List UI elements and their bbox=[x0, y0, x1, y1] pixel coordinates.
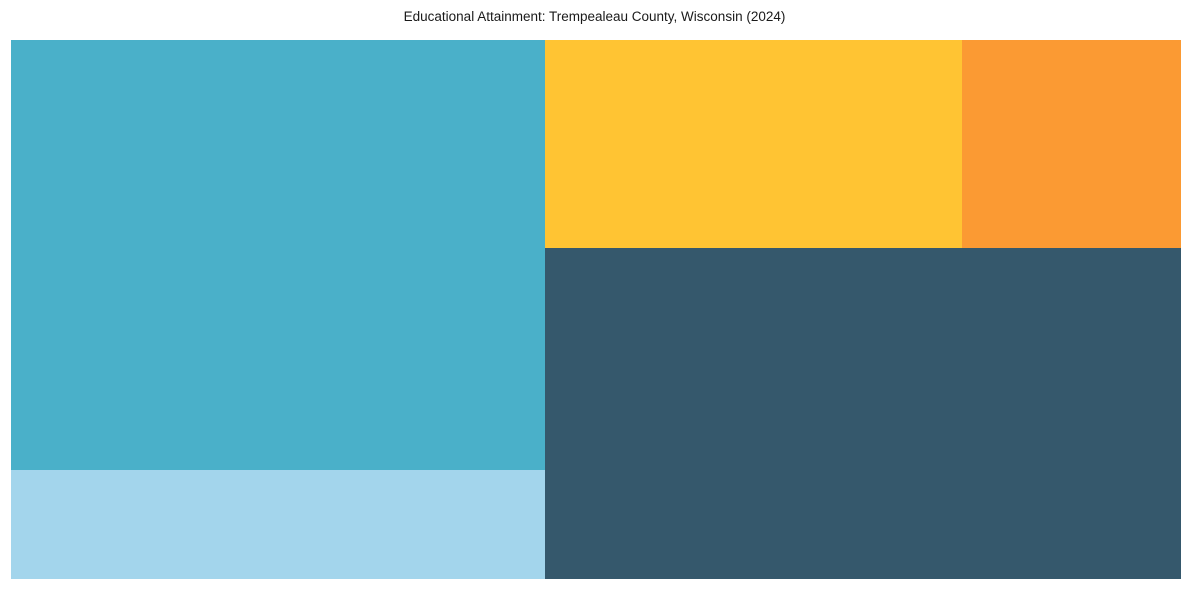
plot-area: High school graduate (includes equivalen… bbox=[11, 40, 1181, 579]
treemap-tile-bachelors-degree[interactable]: Bachelor's degree bbox=[962, 40, 1181, 248]
treemap-figure: Educational Attainment: Trempealeau Coun… bbox=[0, 0, 1189, 590]
treemap-tile-some-college-no-degree[interactable]: Some college, no degree bbox=[545, 40, 962, 248]
treemap-tile-associates-degree[interactable]: Associate's degree bbox=[545, 248, 1181, 579]
treemap-tile-high-school-graduate[interactable]: High school graduate (includes equivalen… bbox=[11, 40, 545, 470]
treemap-tile-less-than-high-school[interactable]: Less than high school diploma bbox=[11, 470, 545, 579]
chart-title: Educational Attainment: Trempealeau Coun… bbox=[0, 8, 1189, 26]
